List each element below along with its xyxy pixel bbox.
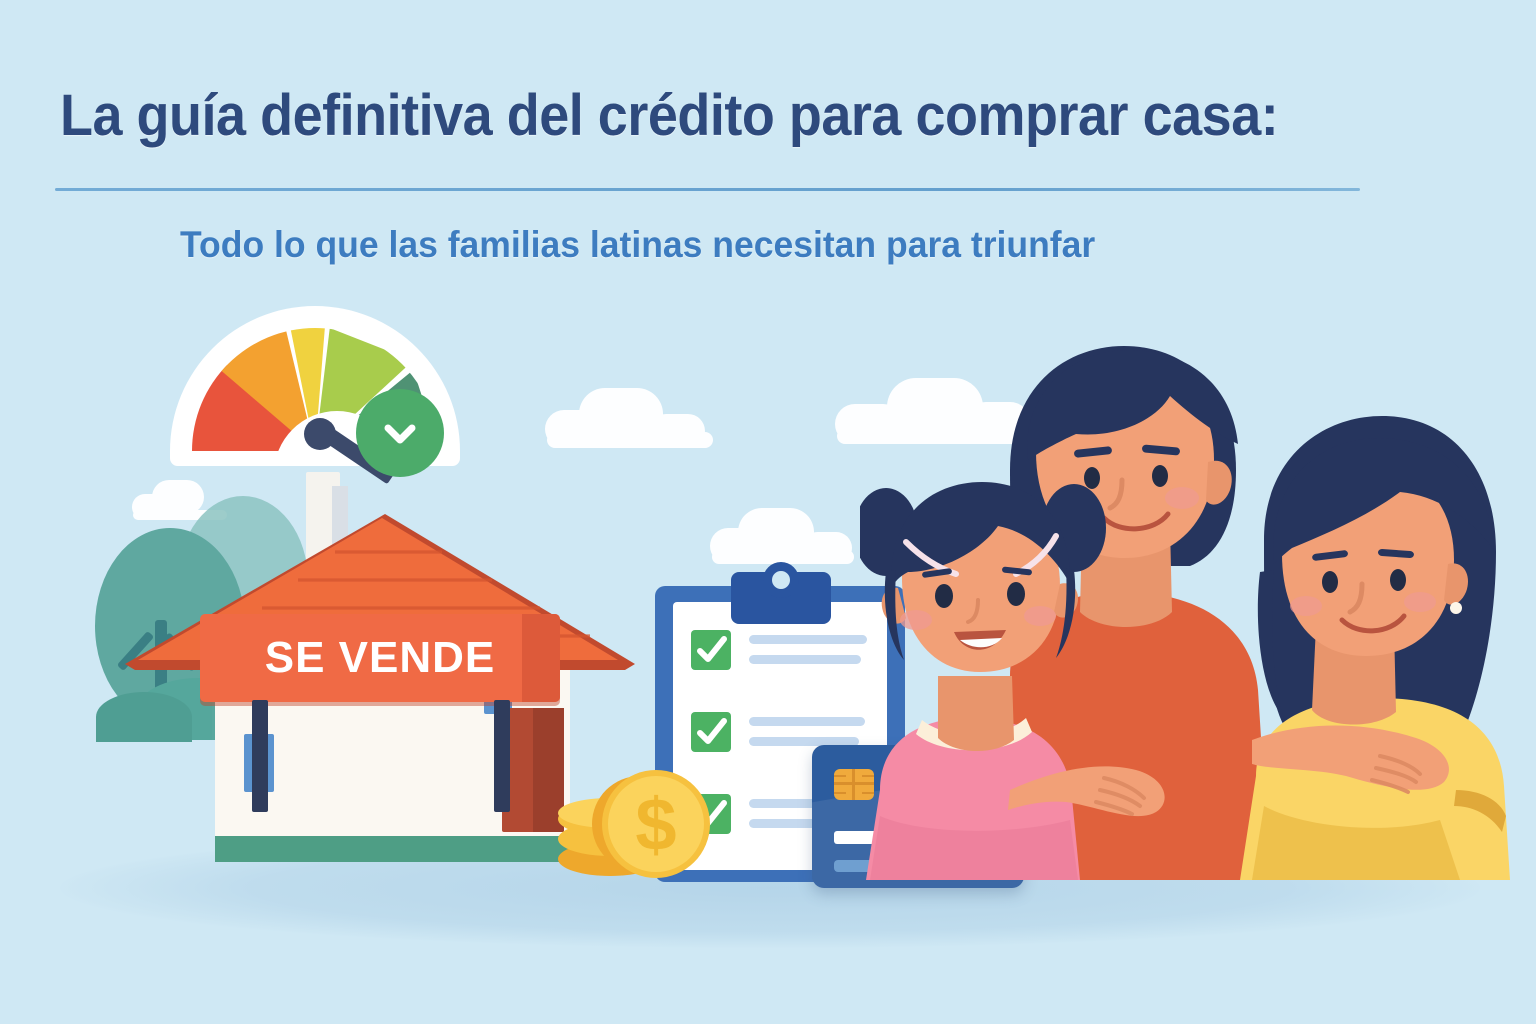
cloud-icon — [710, 508, 856, 564]
checklist-line — [749, 717, 865, 726]
header: La guía definitiva del crédito para comp… — [0, 0, 1536, 300]
sign-label: SE VENDE — [200, 614, 560, 702]
check-icon — [356, 389, 444, 477]
clipboard-ring — [763, 562, 799, 598]
check-icon — [691, 630, 731, 670]
sign-post-left — [252, 700, 268, 812]
page-title: La guía definitiva del crédito para comp… — [60, 86, 1381, 147]
sign-post-right — [494, 700, 510, 812]
credit-score-gauge — [170, 306, 460, 481]
checklist-item — [691, 630, 869, 675]
dollar-symbol: $ — [602, 770, 710, 878]
check-icon — [691, 712, 731, 752]
page-subtitle: Todo lo que las familias latinas necesit… — [180, 225, 1428, 266]
family-group — [860, 320, 1520, 940]
illustration-scene: SE VENDE — [0, 290, 1536, 1024]
cloud-icon — [545, 388, 715, 448]
poster-canvas: La guía definitiva del crédito para comp… — [0, 0, 1536, 1024]
title-divider — [55, 188, 1360, 191]
coin-stack: $ — [540, 768, 740, 898]
for-sale-sign[interactable]: SE VENDE — [200, 614, 560, 774]
checklist-line — [749, 635, 867, 644]
checklist-line — [749, 655, 861, 664]
gauge-pivot — [304, 418, 336, 450]
